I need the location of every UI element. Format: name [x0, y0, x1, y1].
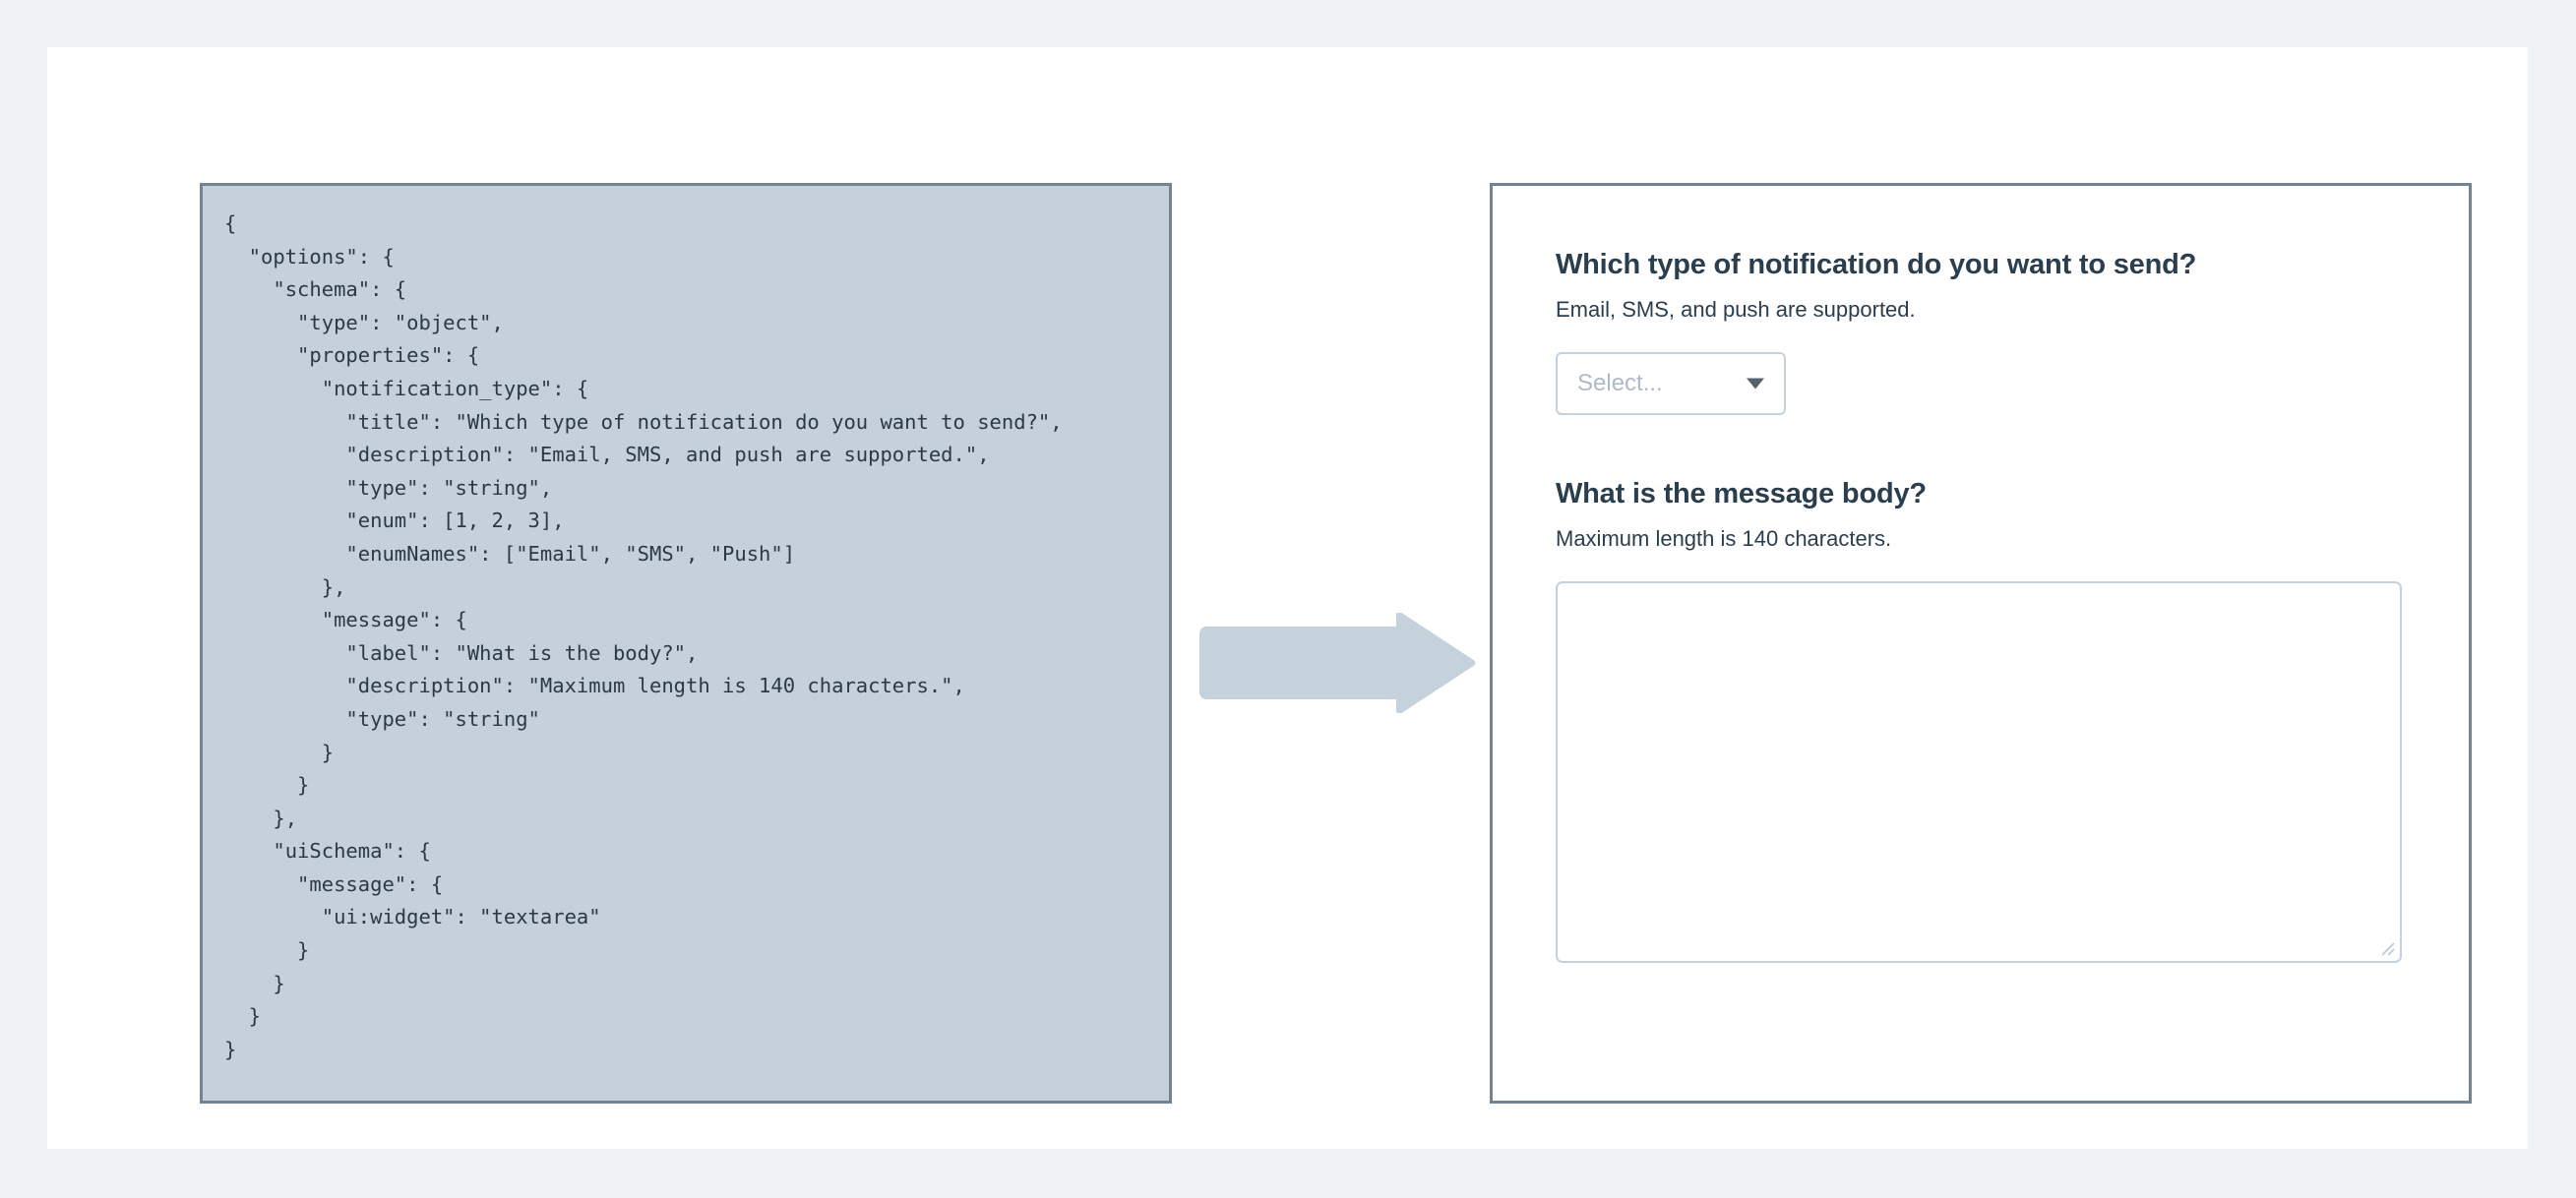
- flow-arrow: [1192, 613, 1477, 713]
- resize-handle-icon[interactable]: [2377, 938, 2395, 956]
- field-title-notification-type: Which type of notification do you want t…: [1556, 247, 2398, 282]
- message-textarea[interactable]: [1556, 581, 2402, 963]
- form-inner: Which type of notification do you want t…: [1493, 186, 2469, 963]
- page-root: { "options": { "schema": { "type": "obje…: [0, 0, 2576, 1198]
- notification-type-select-placeholder: Select...: [1558, 370, 1663, 397]
- field-description-message: Maximum length is 140 characters.: [1556, 525, 2398, 554]
- field-message: What is the message body? Maximum length…: [1556, 476, 2398, 963]
- field-notification-type: Which type of notification do you want t…: [1556, 247, 2398, 415]
- notification-type-select[interactable]: Select...: [1556, 352, 1786, 415]
- content-card: { "options": { "schema": { "type": "obje…: [47, 47, 2528, 1149]
- field-description-notification-type: Email, SMS, and push are supported.: [1556, 296, 2398, 325]
- rendered-form-panel: Which type of notification do you want t…: [1490, 183, 2472, 1104]
- schema-code-text: { "options": { "schema": { "type": "obje…: [203, 186, 1169, 1066]
- chevron-down-icon: [1747, 378, 1764, 389]
- schema-code-panel: { "options": { "schema": { "type": "obje…: [200, 183, 1172, 1104]
- field-title-message: What is the message body?: [1556, 476, 2398, 511]
- arrow-right-icon: [1192, 613, 1477, 713]
